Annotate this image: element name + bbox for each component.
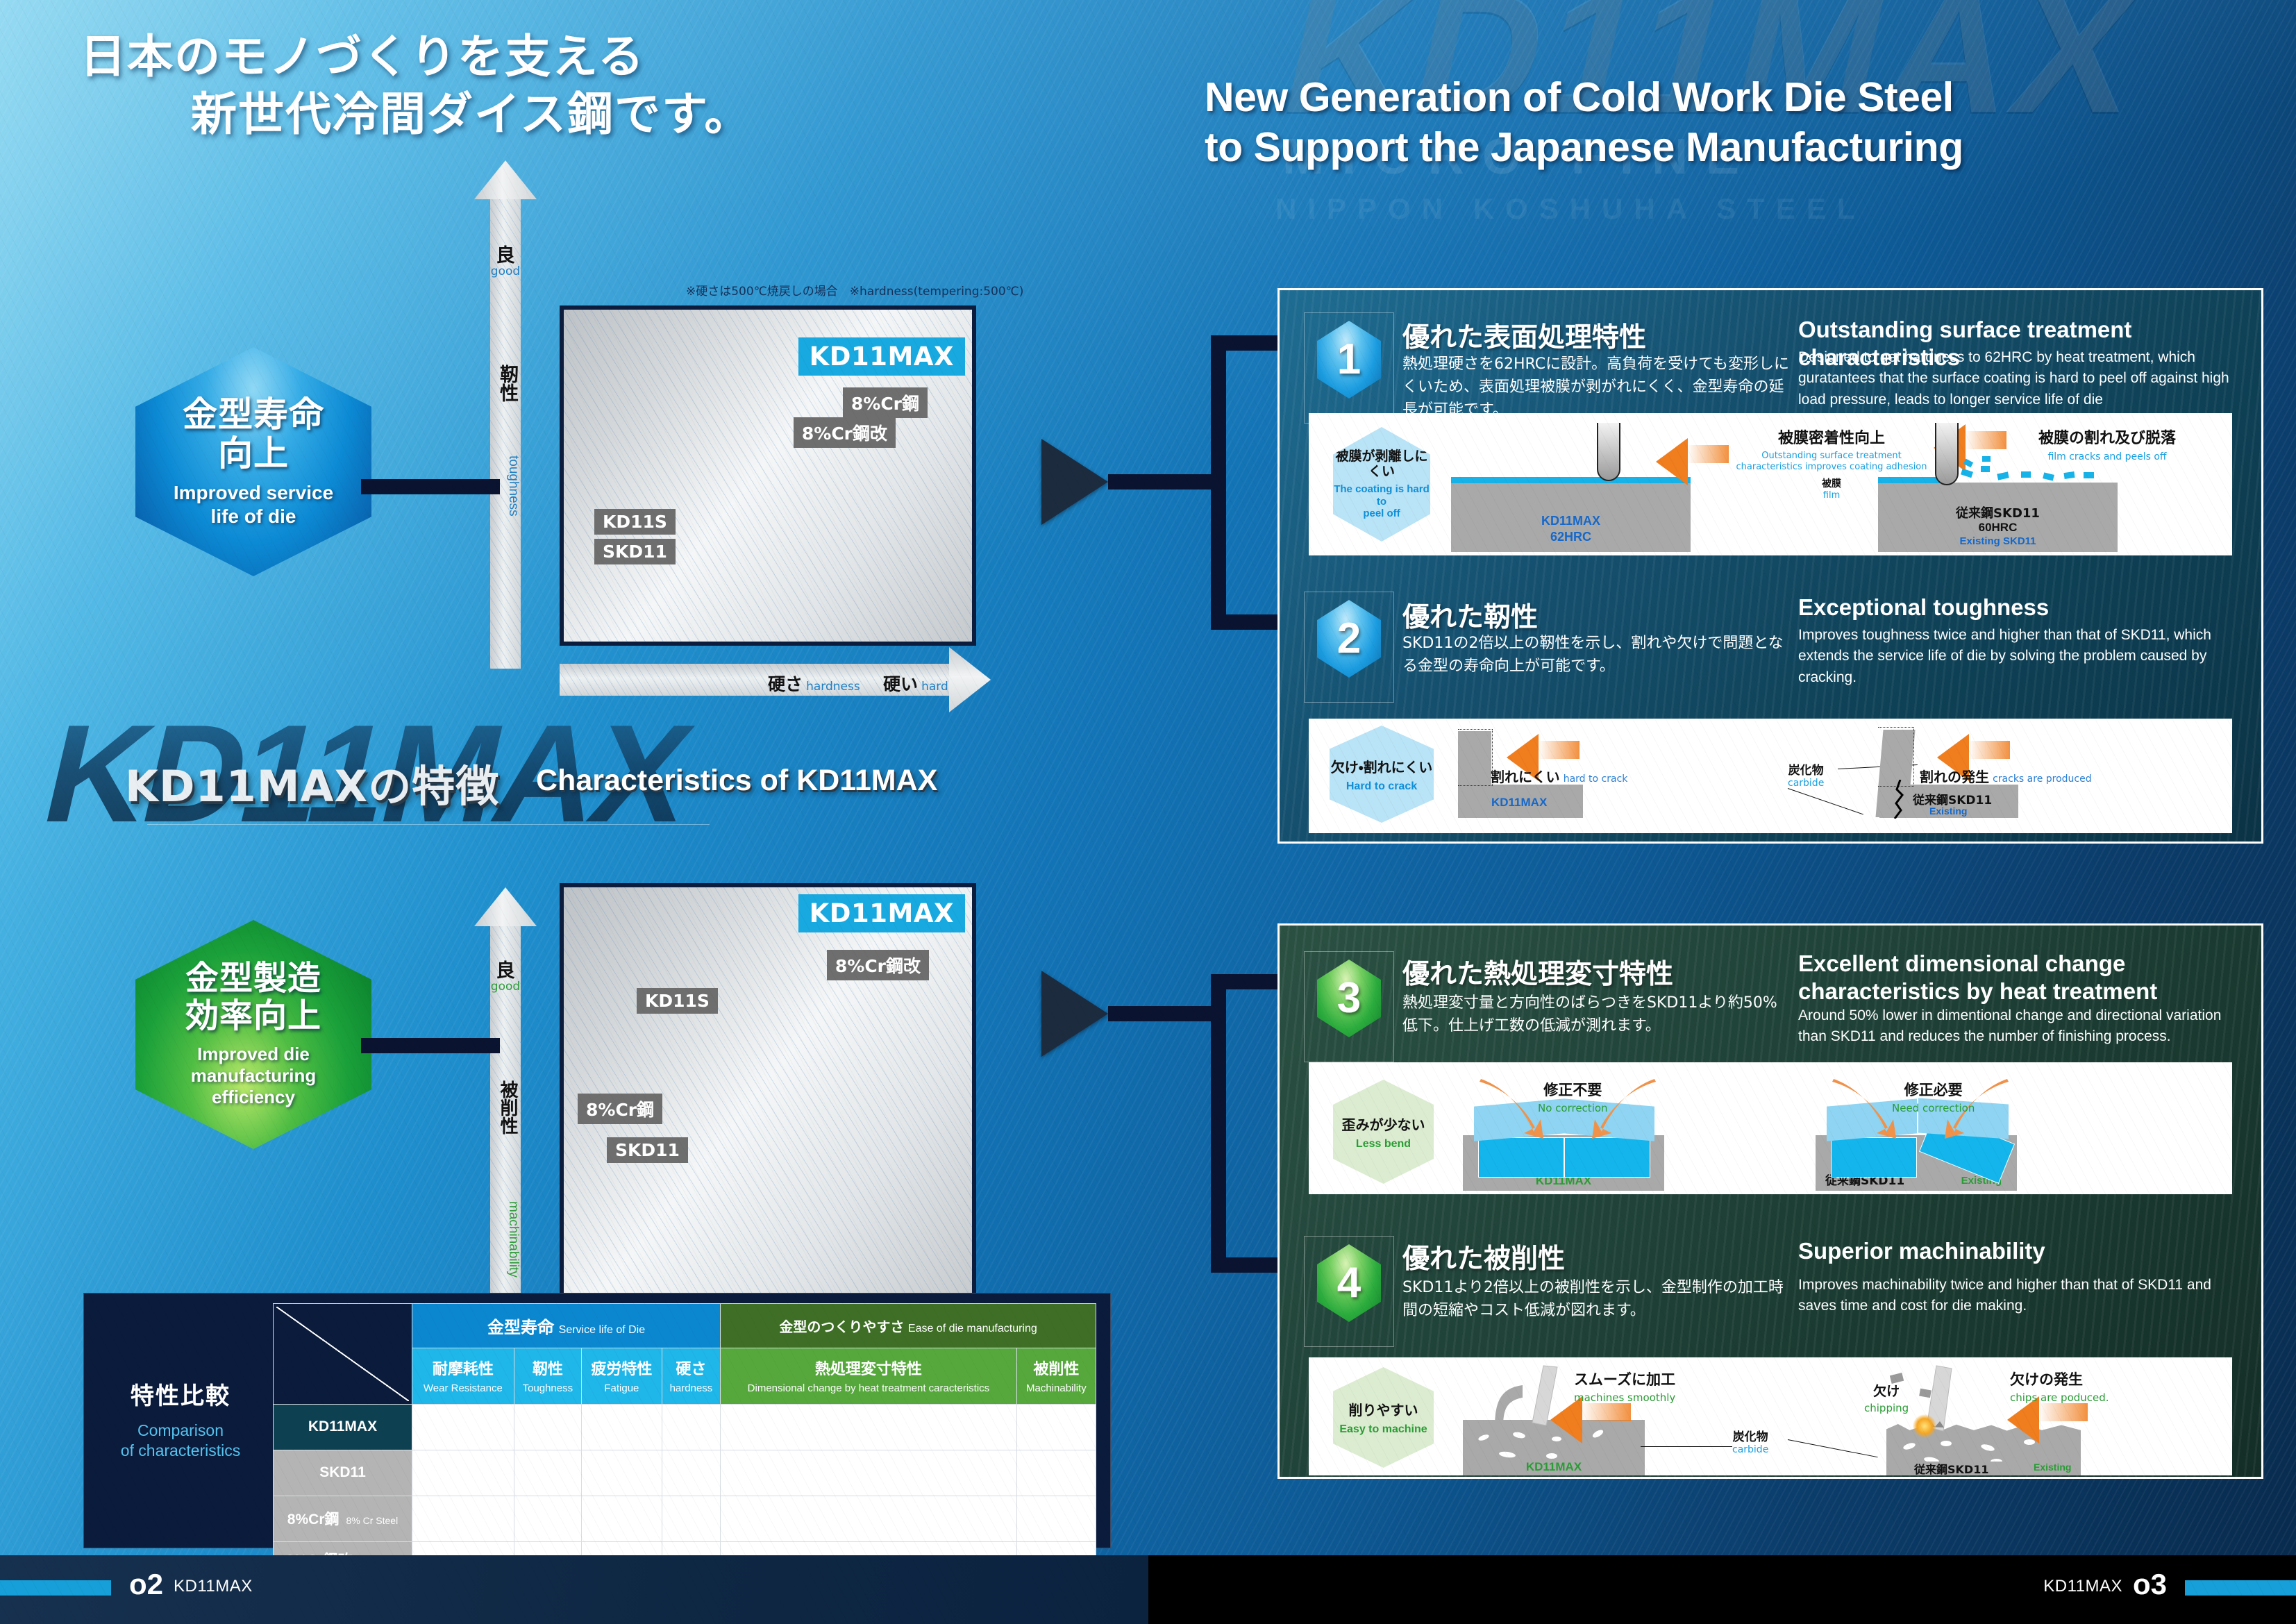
table-group-header-row: 金型寿命 Service life of Die 金型のつくりやすさ Ease … (274, 1304, 1096, 1348)
footer-right: o3 KD11MAX (1148, 1555, 2296, 1624)
connector-line-1b (1108, 474, 1226, 489)
footer-left-name: KD11MAX (174, 1577, 253, 1596)
section2-diagram: 欠け・割れにくい Hard to crack KD11MAX 割れにくい har… (1309, 719, 2232, 833)
column-header-hardness: 硬さhardness (662, 1348, 720, 1405)
chart2-point-skd11: SKD11 (607, 1137, 688, 1163)
cell-8cr-2: ○ (582, 1496, 662, 1541)
section4-carbide-leader-left (1641, 1446, 1732, 1447)
cell-8cr-0: ○ (412, 1496, 514, 1541)
section2-right-outline (1878, 727, 1914, 787)
chart1-point-kd11max: KD11MAX (798, 337, 965, 376)
section-banner: KD11MAX KD11MAXの特徴 Characteristics of KD… (42, 708, 1125, 840)
footer-left-bar (0, 1580, 111, 1596)
section2-left-outline (1458, 729, 1493, 786)
section1-left-film (1451, 477, 1691, 483)
group-header-service-life: 金型寿命 Service life of Die (412, 1304, 721, 1348)
section3-hex-label: 歪みが少ない Less bend (1333, 1080, 1434, 1184)
comparison-title-en-1: Comparison (137, 1421, 224, 1439)
chart1-plot-area: KD11MAX 8%Cr鋼 8%Cr鋼改 KD11S SKD11 (560, 305, 976, 646)
en-headline-line2: to Support the Japanese Manufacturing (1205, 123, 2274, 173)
chart2-y-arrow-icon (474, 887, 537, 926)
comparison-table-panel: 特性比較 Comparison of characteristics 金型寿命 … (83, 1293, 1111, 1548)
badge2-en-line1: Improved die (197, 1044, 310, 1064)
banner-rule (147, 824, 710, 825)
section4-en-body: Improves machinability twice and higher … (1798, 1275, 2229, 1317)
connector-arrow-1 (1041, 439, 1108, 525)
section4-right-arrow-tail (2038, 1403, 2088, 1421)
section1-jp-body: 熱処理硬さを62HRCに設計。高負荷を受けても変形しにくいため、表面処理被膜が剥… (1402, 353, 1791, 421)
section2-en-body: Improves toughness twice and higher than… (1798, 625, 2236, 688)
chart1-x-arrow-icon (949, 647, 991, 712)
cell-skd11-3: ✕ (662, 1450, 720, 1496)
table-row: SKD11 ◎ ✕ △ ✕ △ ✕ (274, 1450, 1096, 1496)
banner-en-title: Characteristics of KD11MAX (536, 764, 937, 798)
footer-right-bar (2185, 1580, 2296, 1596)
section1-left-arrow-tail (1687, 445, 1729, 463)
section2-left-label: 割れにくい hard to crack (1491, 766, 1627, 786)
chart2-y-label-jp: 被削性 (490, 1048, 521, 1166)
badge-manufacturing-efficiency: 金型製造 効率向上 Improved die manufacturing eff… (135, 920, 371, 1149)
chart1-y-arrow-icon (474, 160, 537, 199)
section4-hex-label: 削りやすい Easy to machine (1333, 1367, 1434, 1468)
row-header-kd11max: KD11MAX (274, 1404, 412, 1450)
connector-line-2 (361, 1038, 500, 1053)
section3-right-part-a (1831, 1137, 1917, 1178)
chart2-y-label-en: machinability (490, 1173, 521, 1305)
section4-spark-icon (1913, 1414, 1936, 1438)
jp-headline-line2: 新世代冷間ダイス鋼です。 (191, 85, 1052, 143)
section3-right-label: 修正必要 Need correction (1892, 1079, 1975, 1114)
footer-right-page: o3 (2133, 1568, 2167, 1601)
section4-chip-label: 欠け chipping (1864, 1381, 1909, 1414)
section4-right-label: 欠けの発生 chips are poduced. (2010, 1368, 2109, 1404)
group-header-ease-of-manufacturing: 金型のつくりやすさ Ease of die manufacturing (721, 1304, 1096, 1348)
column-header-wear-resistance: 耐摩耗性Wear Resistance (412, 1348, 514, 1405)
section4-diagram: 削りやすい Easy to machine KD11MAX スムーズに加工 ma… (1309, 1357, 2232, 1475)
section1-diagram: 被膜が剥離しにくい The coating is hard to peel of… (1309, 413, 2232, 555)
section1-right-label: 被膜の割れ及び脱落 film cracks and peels off (2010, 426, 2204, 462)
cell-kd11max-0: ◎ (412, 1404, 514, 1450)
brochure-spread: KD11MAX MICRO FINE NIPPON KOSHUHA STEEL … (0, 0, 2296, 1624)
section1-left-punch-icon (1597, 423, 1620, 481)
section4-right-tool-icon (1897, 1364, 1981, 1434)
cell-kd11max-4: ◎ (721, 1404, 1017, 1450)
section3-en-title: Excellent dimensional change characteris… (1798, 950, 2215, 1005)
section1-jp-title: 優れた表面処理特性 (1402, 316, 1646, 355)
section3-left-part-b (1564, 1137, 1650, 1178)
chart1-y-label-jp: 靭性 (490, 342, 521, 425)
cell-8cr-4: ✕ (721, 1496, 1017, 1541)
table-row: 8%Cr鋼8% Cr Steel ○ ○ ○ ◎ ✕ ✕ (274, 1496, 1096, 1541)
japanese-headline: 日本のモノづくりを支える 新世代冷間ダイス鋼です。 (80, 28, 1052, 142)
chart2-plot-area: KD11MAX 8%Cr鋼改 KD11S 8%Cr鋼 SKD11 (560, 883, 976, 1314)
section4-jp-title: 優れた被削性 (1402, 1237, 1565, 1276)
section2-carbide-leader-left (1788, 788, 1863, 814)
cell-skd11-2: △ (582, 1450, 662, 1496)
comparison-title-jp: 特性比較 (101, 1377, 260, 1411)
connector-bracket-1 (1211, 335, 1226, 630)
cell-kd11max-2: ◎ (582, 1404, 662, 1450)
chart1-point-8cr-improved: 8%Cr鋼改 (794, 417, 896, 448)
section1-right-arrow-tail (1965, 431, 2006, 449)
column-header-toughness: 靭性Toughness (514, 1348, 581, 1405)
section1-hex-label: 被膜が剥離しにくい The coating is hard to peel of… (1333, 427, 1430, 542)
chart1-x-right-label: 硬い hard (883, 671, 948, 696)
section3-jp-body: 熱処理変寸量と方向性のばらつきをSKD11より約50%低下。仕上げ工数の低減が測… (1402, 991, 1791, 1037)
connector-line-2b (1108, 1006, 1226, 1021)
section2-left-arrow-tail (1538, 741, 1579, 759)
section2-right-arrow-tail (1968, 741, 2010, 759)
cell-skd11-0: ◎ (412, 1450, 514, 1496)
cell-8cr-5: ✕ (1016, 1496, 1096, 1541)
chart1-point-8cr: 8%Cr鋼 (843, 387, 928, 418)
section3-diagram: 歪みが少ない Less bend KD11MAX 修正不要 No correct… (1309, 1062, 2232, 1194)
table-corner-cell (274, 1304, 412, 1405)
section1-right-film (1878, 477, 1944, 483)
chart2-y-top-label: 良 good (490, 962, 521, 994)
cell-8cr-3: ◎ (662, 1496, 720, 1541)
badge1-jp-line1: 金型寿命 (183, 394, 324, 435)
section1-left-arrow-icon (1656, 438, 1688, 485)
column-header-fatigue: 疲労特性Fatigue (582, 1348, 662, 1405)
section4-carbide-leader-right (1788, 1439, 1878, 1457)
section1-right-substrate: 従来鋼SKD11 60HRC Existing SKD11 (1878, 483, 2118, 552)
section1-left-substrate: KD11MAX 62HRC (1451, 483, 1691, 552)
en-headline-line1: New Generation of Cold Work Die Steel (1205, 73, 2274, 123)
chart1-x-label: 硬さ hardness (768, 671, 860, 696)
english-headline: New Generation of Cold Work Die Steel to… (1205, 73, 2274, 173)
section4-left-arrow-tail (1581, 1403, 1631, 1421)
section3-jp-title: 優れた熱処理変寸特性 (1402, 953, 1673, 991)
section4-en-title: Superior machinability (1798, 1237, 2215, 1265)
section2-jp-body: SKD11の2倍以上の靭性を示し、割れや欠けで問題となる金型の寿命向上が可能です… (1402, 632, 1791, 678)
row-header-8cr: 8%Cr鋼8% Cr Steel (274, 1496, 412, 1541)
cell-kd11max-3: ◎ (662, 1404, 720, 1450)
comparison-table: 金型寿命 Service life of Die 金型のつくりやすさ Ease … (273, 1303, 1096, 1594)
section3-left-part-a (1478, 1137, 1564, 1178)
footer-left-page: o2 (129, 1568, 163, 1601)
section3-left-label: 修正不要 No correction (1538, 1079, 1608, 1114)
cell-skd11-4: △ (721, 1450, 1017, 1496)
footer-right-name: KD11MAX (2043, 1577, 2122, 1596)
badge2-jp-line1: 金型製造 (185, 959, 321, 998)
section2-hex-label: 欠け・割れにくい Hard to crack (1330, 726, 1434, 823)
badge2-jp-line2: 効率向上 (185, 996, 321, 1035)
connector-line-1 (361, 479, 500, 494)
connector-bracket-2 (1211, 974, 1226, 1273)
cell-skd11-1: ✕ (514, 1450, 581, 1496)
section3-en-body: Around 50% lower in dimentional change a… (1798, 1005, 2229, 1048)
crack-icon (1891, 780, 1914, 819)
section2-carbide-label: 炭化物 carbide (1788, 760, 1824, 789)
chart2-point-8cr: 8%Cr鋼 (578, 1094, 662, 1124)
section4-left-label: スムーズに加工 machines smoothly (1574, 1368, 1675, 1404)
chart2-point-kd11s: KD11S (637, 988, 718, 1014)
table-row: KD11MAX ◎ ◎ ◎ ◎ ◎ ◎ (274, 1404, 1096, 1450)
chart1-note: ※硬さは500℃焼戻しの場合 ※hardness(tempering:500℃) (686, 281, 1023, 299)
watermark-company: NIPPON KOSHUHA STEEL (1275, 194, 2247, 250)
cell-kd11max-1: ◎ (514, 1404, 581, 1450)
row-header-skd11: SKD11 (274, 1450, 412, 1496)
cell-8cr-1: ○ (514, 1496, 581, 1541)
section1-en-body: Designed to get hardness to 62HRC by hea… (1798, 347, 2236, 410)
badge1-en-line2: life of die (211, 505, 296, 527)
section4-right-base: 従来鋼SKD11 Existing (1886, 1462, 2081, 1475)
chart1-point-kd11s: KD11S (594, 509, 676, 535)
section2-left-base: KD11MAX (1458, 785, 1583, 818)
footer-left: o2 KD11MAX (0, 1555, 1148, 1624)
chart1-point-skd11: SKD11 (594, 539, 676, 564)
section2-right-label: 割れの発生 cracks are produced (1920, 766, 2092, 786)
badge-service-life: 金型寿命 向上 Improved service life of die (135, 347, 371, 576)
badge2-en-line3: efficiency (212, 1087, 295, 1107)
chart2-point-8cr-improved: 8%Cr鋼改 (827, 950, 929, 980)
jp-headline-line1: 日本のモノづくりを支える (80, 29, 645, 83)
column-header-machinability: 被削性Machinability (1016, 1348, 1096, 1405)
chart1-y-top-label: 良 good (490, 246, 521, 278)
banner-jp-title: KD11MAXの特徴 (125, 751, 499, 814)
section2-en-title: Exceptional toughness (1798, 594, 2243, 621)
cell-skd11-5: ✕ (1016, 1450, 1096, 1496)
cell-kd11max-5: ◎ (1016, 1404, 1096, 1450)
chart2-point-kd11max: KD11MAX (798, 894, 965, 932)
section2-jp-title: 優れた靭性 (1402, 596, 1538, 635)
badge2-en-line2: manufacturing (191, 1065, 317, 1086)
badge1-en-line1: Improved service (174, 482, 333, 503)
column-header-dimensional-change: 熱処理変寸特性Dimensional change by heat treatm… (721, 1348, 1017, 1405)
section4-carbide-label: 炭化物 carbide (1732, 1427, 1768, 1455)
connector-arrow-2 (1041, 971, 1108, 1057)
badge1-jp-line2: 向上 (218, 433, 289, 474)
comparison-title: 特性比較 Comparison of characteristics (101, 1377, 260, 1461)
section4-jp-body: SKD11より2倍以上の被削性を示し、金型制作の加工時間の短縮やコスト低減が図れ… (1402, 1276, 1791, 1322)
comparison-title-en-2: of characteristics (121, 1441, 241, 1459)
